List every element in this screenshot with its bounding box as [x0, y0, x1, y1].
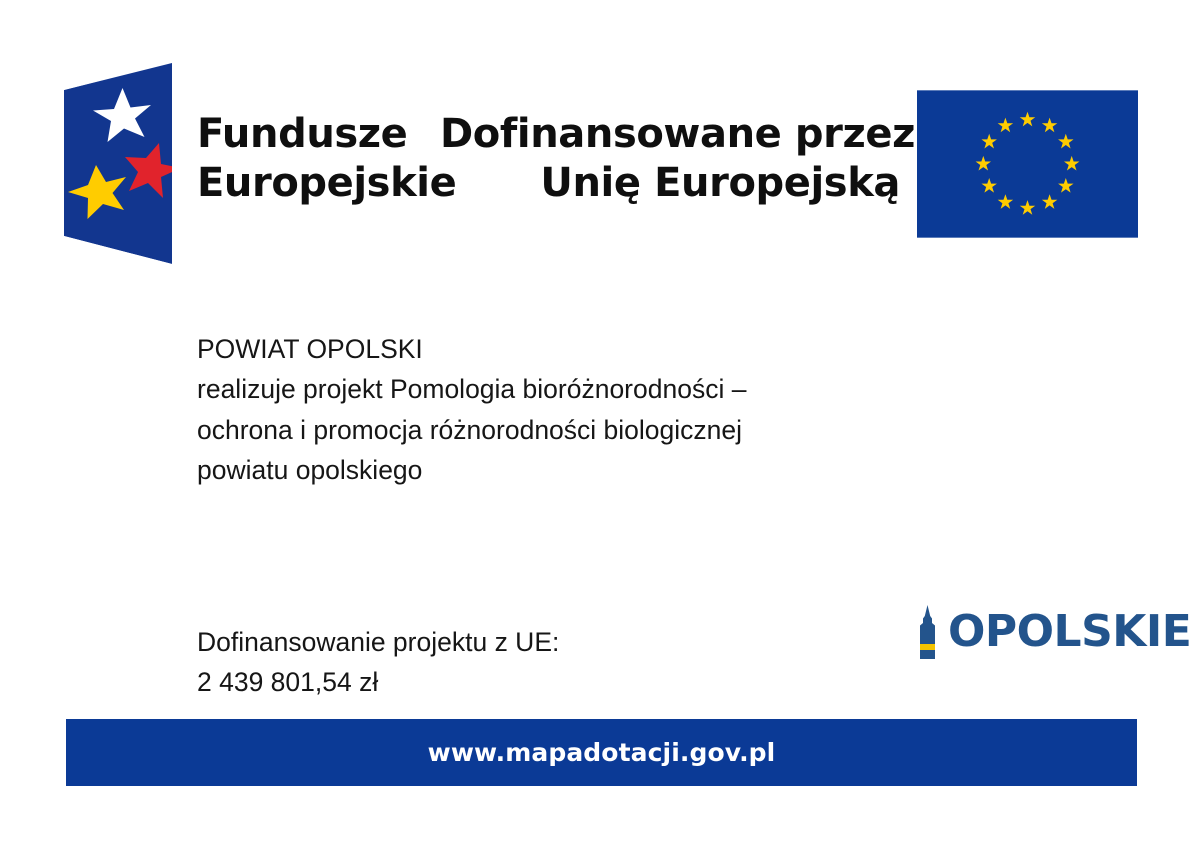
project-line-1: POWIAT OPOLSKI [197, 329, 897, 369]
eu-funding-wordmark: Dofinansowane przez Unię Europejską [440, 110, 900, 208]
opolskie-logo: OPOLSKIE [916, 603, 1191, 661]
project-line-3: ochrona i promocja różnorodności biologi… [197, 410, 897, 450]
project-description: POWIAT OPOLSKI realizuje projekt Pomolog… [197, 329, 897, 490]
eu-wordmark-line-1: Dofinansowane przez [440, 110, 900, 159]
fundusze-europejskie-emblem-icon [60, 58, 176, 268]
opolskie-tower-icon [916, 605, 939, 659]
fe-wordmark-line-1: Fundusze [197, 110, 447, 159]
european-union-flag-icon [917, 90, 1138, 238]
project-line-2: realizuje projekt Pomologia bioróżnorodn… [197, 369, 897, 409]
logo-strip: Fundusze Europejskie Dofinansowane przez… [0, 0, 1200, 280]
fundusze-europejskie-wordmark: Fundusze Europejskie [197, 110, 447, 208]
fe-wordmark-line-2: Europejskie [197, 159, 447, 208]
information-board: Fundusze Europejskie Dofinansowane przez… [0, 0, 1200, 846]
funding-label: Dofinansowanie projektu z UE: [197, 622, 757, 662]
opolskie-wordmark: OPOLSKIE [948, 610, 1191, 654]
project-line-4: powiatu opolskiego [197, 450, 897, 490]
funding-value: 2 439 801,54 zł [197, 662, 757, 702]
funding-amount-block: Dofinansowanie projektu z UE: 2 439 801,… [197, 622, 757, 703]
website-url-text[interactable]: www.mapadotacji.gov.pl [428, 738, 776, 767]
website-url-bar: www.mapadotacji.gov.pl [66, 719, 1137, 786]
eu-wordmark-line-2: Unię Europejską [440, 159, 900, 208]
